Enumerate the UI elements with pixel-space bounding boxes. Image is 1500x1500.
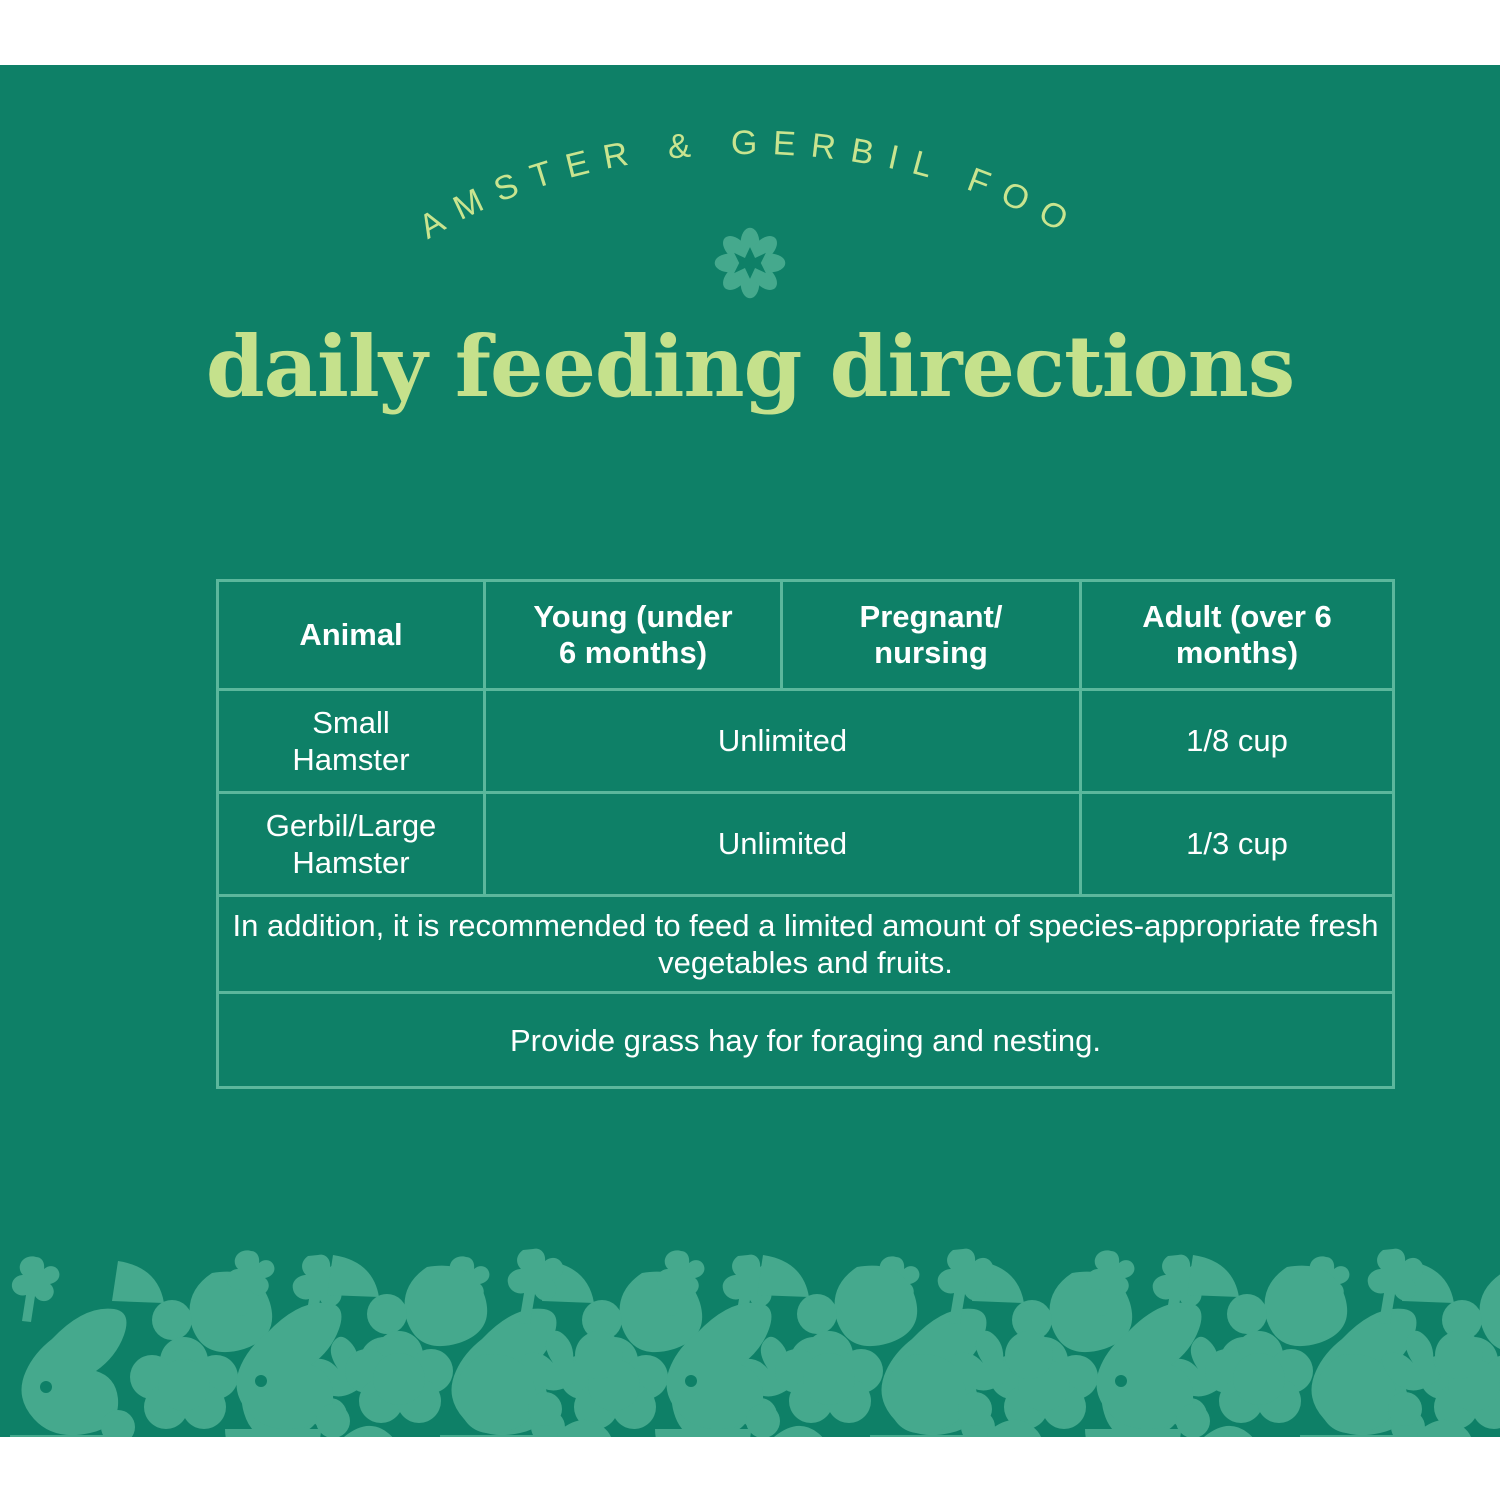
cell-animal-line1: Gerbil/Large bbox=[266, 808, 437, 843]
column-header-pregnant-line2: nursing bbox=[874, 635, 988, 670]
column-header-young-line2: 6 months) bbox=[559, 635, 707, 670]
column-header-animal: Animal bbox=[218, 581, 485, 690]
note-vegetables-fruits: In addition, it is recommended to feed a… bbox=[218, 896, 1394, 993]
table-note-row: Provide grass hay for foraging and nesti… bbox=[218, 993, 1394, 1088]
cell-adult-gerbil-large-hamster: 1/3 cup bbox=[1081, 793, 1394, 896]
vegetable-and-rabbit-pattern bbox=[0, 1205, 1500, 1437]
note-grass-hay: Provide grass hay for foraging and nesti… bbox=[218, 993, 1394, 1088]
page-title: daily feeding directions bbox=[0, 320, 1500, 414]
cell-adult-small-hamster: 1/8 cup bbox=[1081, 690, 1394, 793]
green-panel: HAMSTER & GERBIL FOOD bbox=[0, 65, 1500, 1437]
column-header-young-line1: Young (under bbox=[533, 599, 732, 634]
table-header-row: Animal Young (under 6 months) Pregnant/ … bbox=[218, 581, 1394, 690]
column-header-adult-line1: Adult (over 6 bbox=[1142, 599, 1331, 634]
column-header-young: Young (under 6 months) bbox=[485, 581, 782, 690]
cell-animal-line1: Small bbox=[312, 705, 390, 740]
cell-young-pregnant-small-hamster: Unlimited bbox=[485, 690, 1081, 793]
column-header-adult: Adult (over 6 months) bbox=[1081, 581, 1394, 690]
column-header-animal-line1: Animal bbox=[299, 617, 402, 652]
column-header-pregnant: Pregnant/ nursing bbox=[782, 581, 1081, 690]
table-row: Gerbil/Large Hamster Unlimited 1/3 cup bbox=[218, 793, 1394, 896]
cell-animal-line2: Hamster bbox=[292, 742, 409, 777]
table-row: Small Hamster Unlimited 1/8 cup bbox=[218, 690, 1394, 793]
cell-animal-gerbil-large-hamster: Gerbil/Large Hamster bbox=[218, 793, 485, 896]
cell-young-pregnant-gerbil-large-hamster: Unlimited bbox=[485, 793, 1081, 896]
feeding-directions-table: Animal Young (under 6 months) Pregnant/ … bbox=[216, 579, 1395, 1089]
flower-rosette-icon bbox=[714, 227, 786, 299]
cell-animal-small-hamster: Small Hamster bbox=[218, 690, 485, 793]
poster-root: HAMSTER & GERBIL FOOD bbox=[0, 0, 1500, 1500]
column-header-adult-line2: months) bbox=[1176, 635, 1298, 670]
arc-headline-text: HAMSTER & GERBIL FOOD bbox=[0, 65, 1087, 246]
cell-animal-line2: Hamster bbox=[292, 845, 409, 880]
table-note-row: In addition, it is recommended to feed a… bbox=[218, 896, 1394, 993]
column-header-pregnant-line1: Pregnant/ bbox=[860, 599, 1003, 634]
